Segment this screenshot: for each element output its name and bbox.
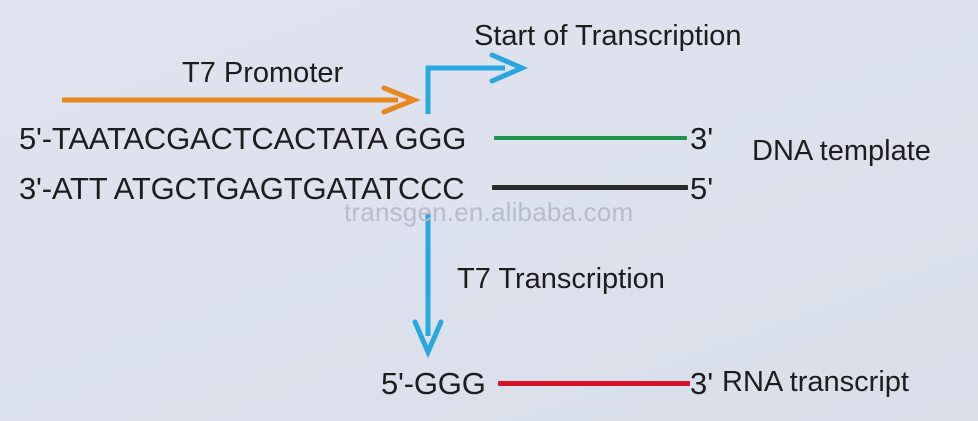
rna-end-label: 3' [690,368,713,399]
t7-promoter-label: T7 Promoter [182,59,343,88]
rna-transcript-label: RNA transcript [722,368,909,397]
t7-transcription-label: T7 Transcription [457,265,665,294]
dna-bottom-strand-line [492,185,688,190]
dna-top-strand-line [494,136,687,140]
dna-bottom-strand-end-label: 5' [690,173,713,204]
transcription-down-arrow-icon [415,214,441,352]
t7-transcription-diagram: T7 Promoter Start of Transcription 5'-TA… [0,0,978,421]
dna-top-strand-end-label: 3' [690,123,713,154]
promoter-arrow-icon [62,88,414,112]
rna-start-label: 5'-GGG [381,368,486,399]
watermark-text: transgen.en.alibaba.com [344,199,633,225]
rna-strand-line [498,381,690,386]
start-of-transcription-arrow-icon [428,55,522,114]
start-of-transcription-label: Start of Transcription [474,22,742,51]
dna-top-strand-sequence: 5'-TAATACGACTCACTATA GGG [19,123,466,154]
dna-template-label: DNA template [752,137,931,166]
